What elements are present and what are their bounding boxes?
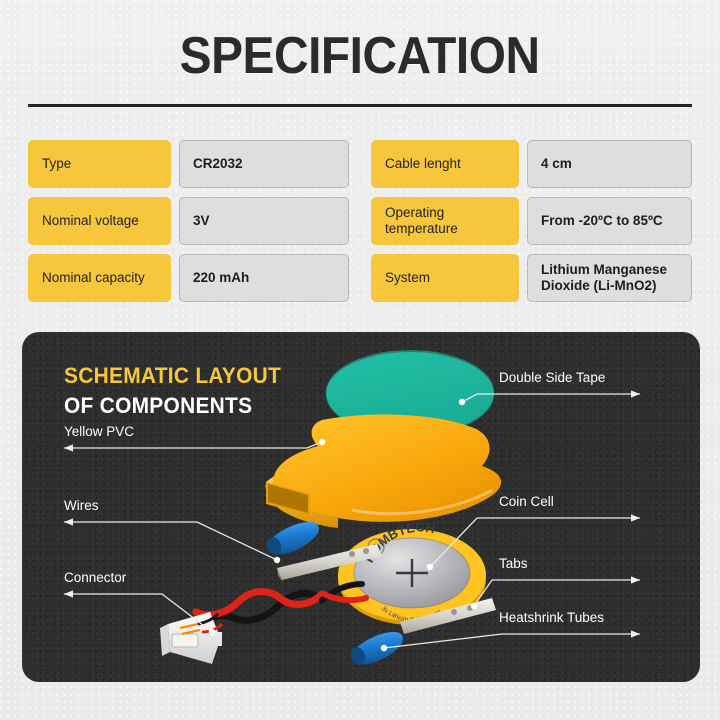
spec-label: Nominal capacity bbox=[28, 254, 171, 302]
callout-tabs: Tabs bbox=[499, 556, 528, 576]
callout-label: Heatshrink Tubes bbox=[499, 610, 604, 625]
connector-shape bbox=[160, 612, 222, 664]
callout-connector: Connector bbox=[64, 570, 126, 590]
spec-value: 220 mAh bbox=[179, 254, 349, 302]
callout-label: Wires bbox=[64, 498, 99, 513]
table-row: Nominal capacity 220 mAh bbox=[28, 254, 349, 302]
table-row: Operating temperature From -20ºC to 85ºC bbox=[371, 197, 692, 245]
callout-coin-cell: Coin Cell bbox=[499, 494, 554, 514]
callout-wires: Wires bbox=[64, 498, 99, 518]
spec-value: 3V bbox=[179, 197, 349, 245]
callout-heatshrink-tubes: Heatshrink Tubes bbox=[499, 610, 604, 630]
spec-label: Nominal voltage bbox=[28, 197, 171, 245]
spec-label: Type bbox=[28, 140, 171, 188]
callout-yellow-pvc: Yellow PVC bbox=[64, 424, 134, 444]
spec-value: Lithium Manganese Dioxide (Li-MnO2) bbox=[527, 254, 692, 302]
spec-label: Operating temperature bbox=[371, 197, 519, 245]
yellow-pvc-shape bbox=[266, 414, 502, 528]
specification-table: Type CR2032 Nominal voltage 3V Nominal c… bbox=[28, 140, 692, 302]
heatshrink-tube-lower bbox=[348, 632, 403, 667]
schematic-panel: SCHEMATIC LAYOUT OF COMPONENTS bbox=[22, 332, 700, 682]
wires-shape bbox=[194, 584, 366, 630]
specification-page: SPECIFICATION Type CR2032 Nominal voltag… bbox=[0, 0, 720, 720]
spec-column-right: Cable lenght 4 cm Operating temperature … bbox=[371, 140, 692, 302]
table-row: Type CR2032 bbox=[28, 140, 349, 188]
callout-label: Connector bbox=[64, 570, 126, 585]
spec-value: 4 cm bbox=[527, 140, 692, 188]
title-divider bbox=[28, 104, 692, 107]
spec-column-left: Type CR2032 Nominal voltage 3V Nominal c… bbox=[28, 140, 349, 302]
callout-label: Coin Cell bbox=[499, 494, 554, 509]
spec-label: Cable lenght bbox=[371, 140, 519, 188]
spec-label: System bbox=[371, 254, 519, 302]
callout-double-side-tape: Double Side Tape bbox=[499, 370, 605, 390]
spec-value: CR2032 bbox=[179, 140, 349, 188]
callout-label: Double Side Tape bbox=[499, 370, 605, 385]
page-title-wrap: SPECIFICATION bbox=[0, 26, 720, 86]
callout-label: Tabs bbox=[499, 556, 528, 571]
spec-value: From -20ºC to 85ºC bbox=[527, 197, 692, 245]
table-row: Nominal voltage 3V bbox=[28, 197, 349, 245]
heatshrink-tube-upper bbox=[264, 522, 319, 557]
callout-label: Yellow PVC bbox=[64, 424, 134, 439]
table-row: Cable lenght 4 cm bbox=[371, 140, 692, 188]
table-row: System Lithium Manganese Dioxide (Li-MnO… bbox=[371, 254, 692, 302]
page-title: SPECIFICATION bbox=[180, 26, 540, 86]
